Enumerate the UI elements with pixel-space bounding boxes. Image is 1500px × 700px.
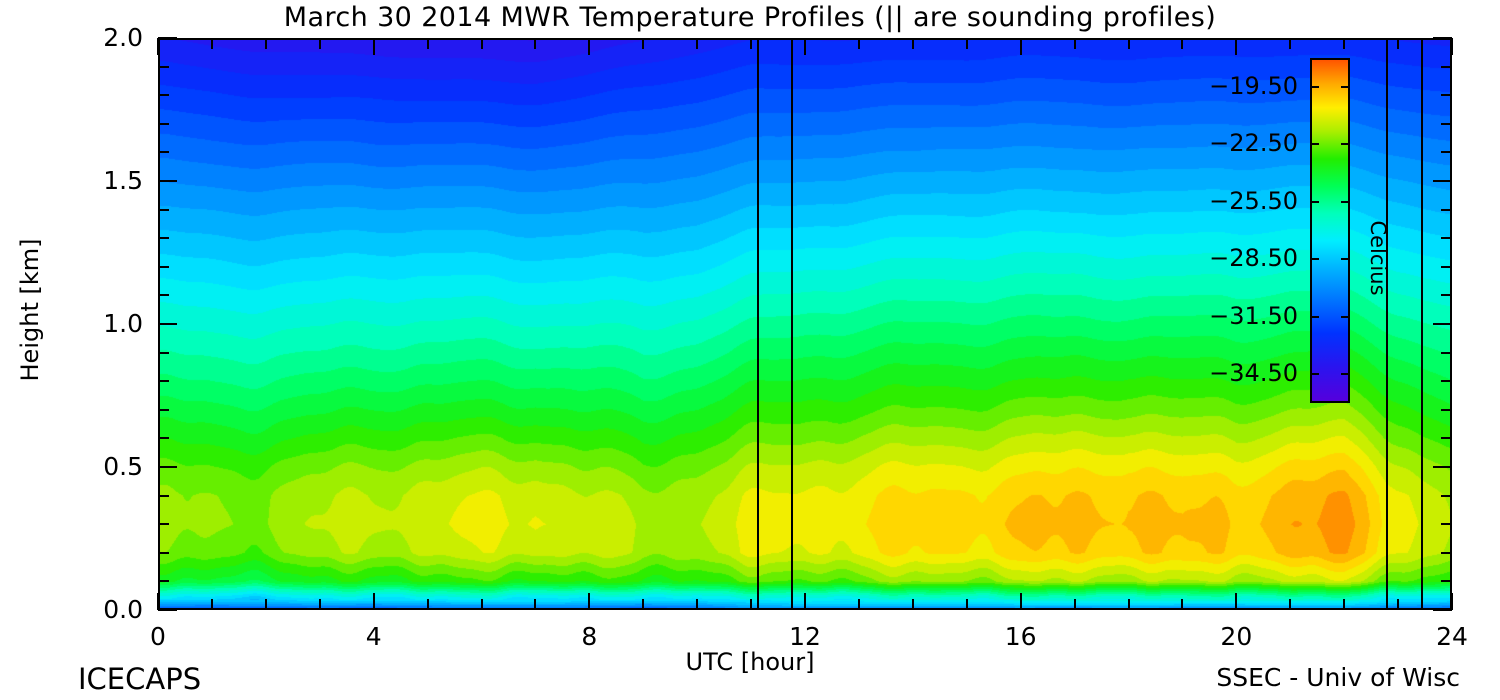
colorbar-tick-right-5	[1341, 373, 1350, 375]
x-axis-label-24: 24	[1412, 622, 1492, 651]
colorbar-label--25.50: −25.50	[1148, 187, 1298, 215]
x-tick-top-16	[1020, 38, 1022, 55]
y-tick-right-1.7	[1441, 123, 1452, 125]
y-tick-right-0.7	[1441, 409, 1452, 411]
x-tick-bottom-22	[1343, 599, 1345, 610]
colorbar-tick-right-2	[1341, 201, 1350, 203]
x-tick-top-11	[750, 38, 752, 49]
y-tick-left-0.0	[158, 609, 177, 611]
y-tick-left-1.6	[158, 151, 169, 153]
sounding-profile-line-1	[757, 38, 759, 610]
x-tick-bottom-23	[1397, 599, 1399, 610]
x-tick-bottom-21	[1289, 599, 1291, 610]
y-tick-left-0.7	[158, 409, 169, 411]
y-tick-right-0.4	[1441, 495, 1452, 497]
y-tick-left-1.2	[158, 266, 169, 268]
x-tick-top-7	[534, 38, 536, 49]
x-tick-top-20	[1235, 38, 1237, 55]
colorbar-tick-left-3	[1310, 258, 1319, 260]
x-tick-bottom-24	[1451, 593, 1453, 610]
x-tick-top-22	[1343, 38, 1345, 49]
x-tick-top-10	[696, 38, 698, 49]
footer-institution-label: SSEC - Univ of Wisc	[1216, 663, 1460, 692]
x-tick-bottom-5	[427, 599, 429, 610]
y-tick-right-2.0	[1433, 37, 1452, 39]
y-tick-left-1.7	[158, 123, 169, 125]
x-tick-top-14	[912, 38, 914, 49]
colorbar-tick-right-1	[1341, 143, 1350, 145]
y-tick-right-1.4	[1441, 209, 1452, 211]
y-tick-right-0.5	[1433, 466, 1452, 468]
x-tick-top-12	[804, 38, 806, 55]
y-tick-left-1.3	[158, 237, 169, 239]
y-tick-right-0.9	[1441, 352, 1452, 354]
x-tick-bottom-18	[1128, 599, 1130, 610]
x-tick-bottom-17	[1074, 599, 1076, 610]
y-tick-right-0.6	[1441, 437, 1452, 439]
colorbar-label--31.50: −31.50	[1148, 302, 1298, 330]
colorbar-label--19.50: −19.50	[1148, 72, 1298, 100]
x-tick-top-19	[1181, 38, 1183, 49]
y-tick-left-0.3	[158, 523, 169, 525]
y-tick-right-0.0	[1433, 609, 1452, 611]
colorbar-tick-right-0	[1341, 86, 1350, 88]
y-tick-left-0.1	[158, 580, 169, 582]
x-axis-label-20: 20	[1196, 622, 1276, 651]
x-tick-bottom-14	[912, 599, 914, 610]
x-tick-bottom-3	[319, 599, 321, 610]
y-axis-label-1.0: 1.0	[48, 309, 143, 338]
footer-project-label: ICECAPS	[78, 662, 201, 696]
x-axis-label-0: 0	[118, 622, 198, 651]
sounding-profile-line-2	[791, 38, 793, 610]
x-tick-bottom-11	[750, 599, 752, 610]
x-tick-top-23	[1397, 38, 1399, 49]
x-tick-top-3	[319, 38, 321, 49]
y-tick-left-0.9	[158, 352, 169, 354]
x-axis-label-16: 16	[981, 622, 1061, 651]
colorbar-label--28.50: −28.50	[1148, 244, 1298, 272]
x-tick-bottom-1	[211, 599, 213, 610]
x-tick-bottom-7	[534, 599, 536, 610]
x-tick-bottom-0	[157, 593, 159, 610]
x-tick-top-6	[481, 38, 483, 49]
y-tick-right-1.2	[1441, 266, 1452, 268]
y-axis-label-0.5: 0.5	[48, 452, 143, 481]
x-tick-top-17	[1074, 38, 1076, 49]
y-tick-right-0.8	[1441, 380, 1452, 382]
page-title: March 30 2014 MWR Temperature Profiles (…	[0, 2, 1500, 33]
x-tick-bottom-16	[1020, 593, 1022, 610]
colorbar-title: Celcius	[1366, 168, 1390, 348]
x-tick-top-0	[157, 38, 159, 55]
x-tick-top-13	[858, 38, 860, 49]
x-tick-top-24	[1451, 38, 1453, 55]
colorbar-tick-left-1	[1310, 143, 1319, 145]
colorbar-label--34.50: −34.50	[1148, 359, 1298, 387]
colorbar-label--22.50: −22.50	[1148, 129, 1298, 157]
y-axis-label-0.0: 0.0	[48, 595, 143, 624]
x-tick-bottom-15	[966, 599, 968, 610]
y-tick-left-1.5	[158, 180, 177, 182]
x-tick-top-18	[1128, 38, 1130, 49]
x-tick-top-5	[427, 38, 429, 49]
x-tick-bottom-9	[642, 599, 644, 610]
y-tick-left-1.4	[158, 209, 169, 211]
y-tick-left-1.9	[158, 66, 169, 68]
x-tick-bottom-13	[858, 599, 860, 610]
plot-root: March 30 2014 MWR Temperature Profiles (…	[0, 0, 1500, 700]
y-tick-right-0.1	[1441, 580, 1452, 582]
y-tick-left-2.0	[158, 37, 177, 39]
x-axis-label-12: 12	[765, 622, 845, 651]
x-tick-top-4	[373, 38, 375, 55]
x-tick-top-21	[1289, 38, 1291, 49]
colorbar-tick-left-5	[1310, 373, 1319, 375]
y-tick-right-1.8	[1441, 94, 1452, 96]
y-tick-right-1.3	[1441, 237, 1452, 239]
x-tick-bottom-19	[1181, 599, 1183, 610]
y-tick-left-1.8	[158, 94, 169, 96]
colorbar-tick-right-3	[1341, 258, 1350, 260]
y-tick-left-1.0	[158, 323, 177, 325]
y-tick-left-0.2	[158, 552, 169, 554]
x-tick-top-15	[966, 38, 968, 49]
colorbar-gradient	[1312, 60, 1348, 401]
y-tick-left-0.4	[158, 495, 169, 497]
y-tick-right-0.2	[1441, 552, 1452, 554]
colorbar-tick-right-4	[1341, 316, 1350, 318]
x-tick-bottom-8	[588, 593, 590, 610]
x-tick-bottom-10	[696, 599, 698, 610]
x-axis-label-4: 4	[334, 622, 414, 651]
x-tick-bottom-2	[265, 599, 267, 610]
y-tick-right-1.0	[1433, 323, 1452, 325]
x-tick-bottom-6	[481, 599, 483, 610]
y-tick-right-1.6	[1441, 151, 1452, 153]
y-tick-left-1.1	[158, 294, 169, 296]
y-tick-right-0.3	[1441, 523, 1452, 525]
x-axis-label-8: 8	[549, 622, 629, 651]
y-axis-label-2.0: 2.0	[48, 23, 143, 52]
y-tick-right-1.5	[1433, 180, 1452, 182]
y-tick-left-0.6	[158, 437, 169, 439]
y-tick-left-0.5	[158, 466, 177, 468]
y-tick-right-1.1	[1441, 294, 1452, 296]
colorbar-tick-left-4	[1310, 316, 1319, 318]
y-axis-title: Height [km]	[16, 160, 44, 460]
y-axis-label-1.5: 1.5	[48, 166, 143, 195]
sounding-profile-line-4	[1421, 38, 1423, 610]
y-tick-left-0.8	[158, 380, 169, 382]
colorbar-tick-left-0	[1310, 86, 1319, 88]
x-tick-top-9	[642, 38, 644, 49]
x-tick-bottom-20	[1235, 593, 1237, 610]
x-tick-bottom-12	[804, 593, 806, 610]
x-tick-bottom-4	[373, 593, 375, 610]
x-tick-top-2	[265, 38, 267, 49]
colorbar	[1310, 58, 1350, 403]
colorbar-tick-left-2	[1310, 201, 1319, 203]
y-tick-right-1.9	[1441, 66, 1452, 68]
x-tick-top-1	[211, 38, 213, 49]
x-tick-top-8	[588, 38, 590, 55]
